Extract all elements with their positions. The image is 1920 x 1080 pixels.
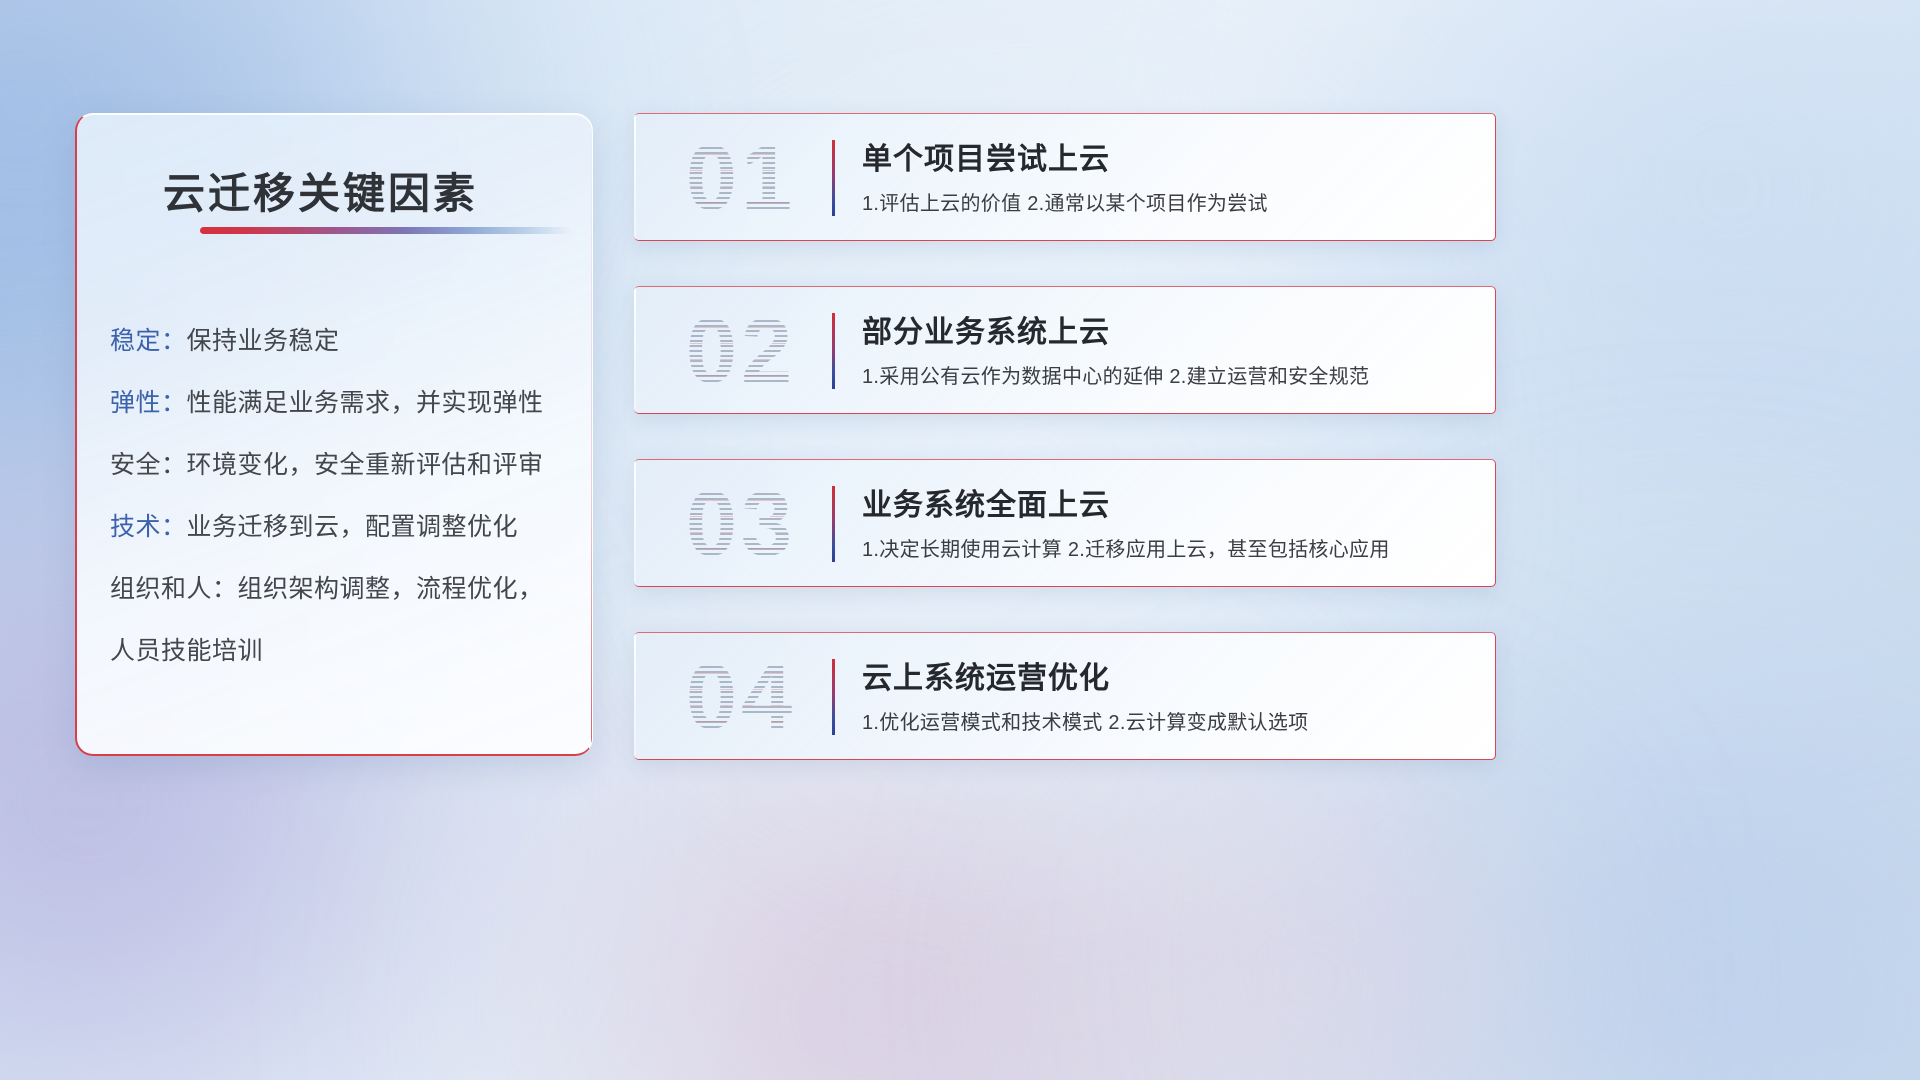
card-accent-divider — [832, 659, 835, 735]
card-accent-divider — [832, 486, 835, 562]
card-accent-divider — [832, 140, 835, 216]
stage-card-subtitle: 1.决定长期使用云计算 2.迁移应用上云，甚至包括核心应用 — [862, 533, 1390, 562]
stage-number-watermark: 03 — [656, 468, 826, 580]
migration-stage-cards: 0101单个项目尝试上云1.评估上云的价值 2.通常以某个项目作为尝试0202部… — [634, 113, 1496, 805]
key-factor-row: 稳定：保持业务稳定 — [110, 310, 572, 372]
stage-card-subtitle: 1.优化运营模式和技术模式 2.云计算变成默认选项 — [862, 706, 1308, 735]
key-factor-text: 性能满足业务需求，并实现弹性 — [187, 389, 544, 417]
stage-card-title: 部分业务系统上云 — [862, 307, 1110, 351]
stage-number-watermark: 02 — [656, 295, 826, 407]
key-factor-row: 安全：环境变化，安全重新评估和评审 — [110, 434, 572, 496]
key-factor-row: 组织和人：组织架构调整，流程优化， — [110, 558, 572, 620]
stage-card-title: 单个项目尝试上云 — [862, 134, 1110, 178]
stage-card-subtitle: 1.采用公有云作为数据中心的延伸 2.建立运营和安全规范 — [862, 360, 1369, 389]
key-factor-label: 安全： — [110, 451, 187, 479]
stage-number-watermark: 01 — [656, 122, 826, 234]
stage-card[interactable]: 0404云上系统运营优化1.优化运营模式和技术模式 2.云计算变成默认选项 — [634, 632, 1496, 760]
key-factor-label: 稳定： — [110, 327, 187, 355]
key-factor-text: 保持业务稳定 — [187, 327, 340, 355]
stage-card-subtitle: 1.评估上云的价值 2.通常以某个项目作为尝试 — [862, 187, 1268, 216]
stage-card[interactable]: 0101单个项目尝试上云1.评估上云的价值 2.通常以某个项目作为尝试 — [634, 113, 1496, 241]
card-accent-divider — [832, 313, 835, 389]
key-factor-label: 弹性： — [110, 389, 187, 417]
key-factor-text: 业务迁移到云，配置调整优化 — [187, 513, 519, 541]
key-factor-row: 弹性：性能满足业务需求，并实现弹性 — [110, 372, 572, 434]
key-factor-row: 技术：业务迁移到云，配置调整优化 — [110, 496, 572, 558]
key-factor-label: 组织和人： — [110, 575, 238, 603]
stage-card-title: 云上系统运营优化 — [862, 653, 1110, 697]
key-factors-list: 稳定：保持业务稳定弹性：性能满足业务需求，并实现弹性安全：环境变化，安全重新评估… — [110, 310, 572, 682]
stage-card-title: 业务系统全面上云 — [862, 480, 1110, 524]
stage-card[interactable]: 0202部分业务系统上云1.采用公有云作为数据中心的延伸 2.建立运营和安全规范 — [634, 286, 1496, 414]
key-factors-panel: 云迁移关键因素 稳定：保持业务稳定弹性：性能满足业务需求，并实现弹性安全：环境变… — [75, 113, 593, 756]
key-factor-label: 技术： — [110, 513, 187, 541]
stage-card[interactable]: 0303业务系统全面上云1.决定长期使用云计算 2.迁移应用上云，甚至包括核心应… — [634, 459, 1496, 587]
key-factor-row: 人员技能培训 — [110, 620, 572, 682]
stage-number-watermark: 04 — [656, 641, 826, 753]
title-underline-rule — [200, 227, 572, 234]
panel-title: 云迁移关键因素 — [163, 160, 478, 221]
key-factor-text: 人员技能培训 — [110, 637, 263, 665]
key-factor-text: 环境变化，安全重新评估和评审 — [187, 451, 544, 479]
key-factor-text: 组织架构调整，流程优化， — [238, 575, 544, 603]
